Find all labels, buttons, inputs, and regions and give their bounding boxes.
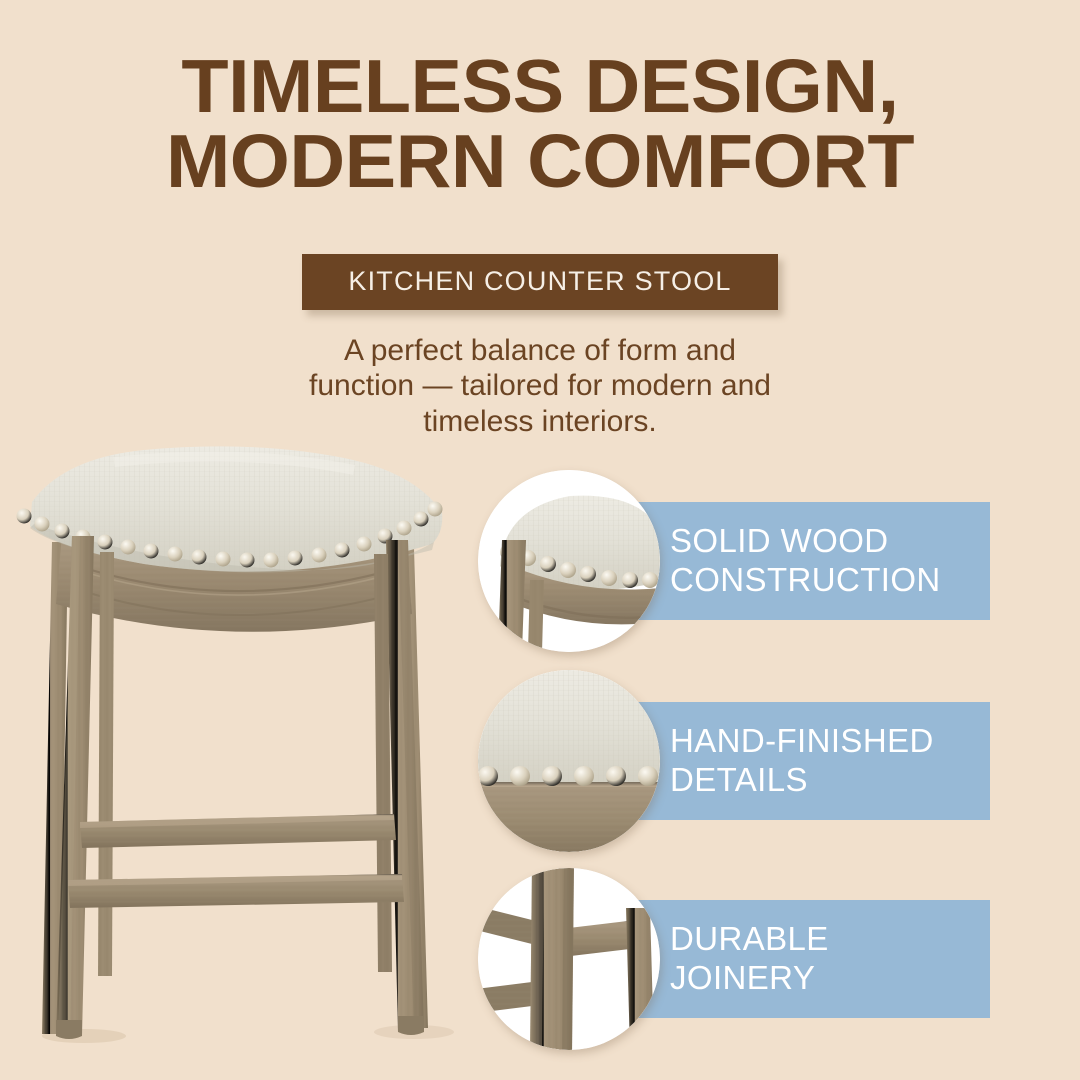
feature-thumb-nailhead-trim-detail [478, 670, 660, 852]
feature-label-line-2: DETAILS [670, 761, 808, 798]
page-title: TIMELESS DESIGN, MODERN COMFORT [0, 52, 1080, 196]
feature-label-line-1: DURABLE JOINERY [670, 920, 829, 996]
product-category-badge: KITCHEN COUNTER STOOL [302, 254, 777, 310]
infographic-canvas: TIMELESS DESIGN, MODERN COMFORT KITCHEN … [0, 0, 1080, 1080]
subtitle-line-1: A perfect balance of form and [0, 333, 1080, 368]
subtitle: A perfect balance of form and function —… [0, 333, 1080, 439]
feature-label-line-2: CONSTRUCTION [670, 561, 941, 598]
headline-line-2: MODERN COMFORT [0, 127, 1080, 196]
feature-thumb-leg-stretcher-joint-detail [478, 868, 660, 1050]
feature-label-line-1: SOLID WOOD [670, 522, 889, 559]
product-category-badge-wrap: KITCHEN COUNTER STOOL [0, 254, 1080, 310]
product-hero-image [0, 436, 464, 1080]
headline-line-1: TIMELESS DESIGN, [0, 52, 1080, 121]
feature-thumb-seat-corner-detail [478, 470, 660, 652]
feature-label-line-1: HAND-FINISHED [670, 722, 934, 759]
subtitle-line-2: function — tailored for modern and [0, 368, 1080, 403]
subtitle-line-3: timeless interiors. [0, 404, 1080, 439]
